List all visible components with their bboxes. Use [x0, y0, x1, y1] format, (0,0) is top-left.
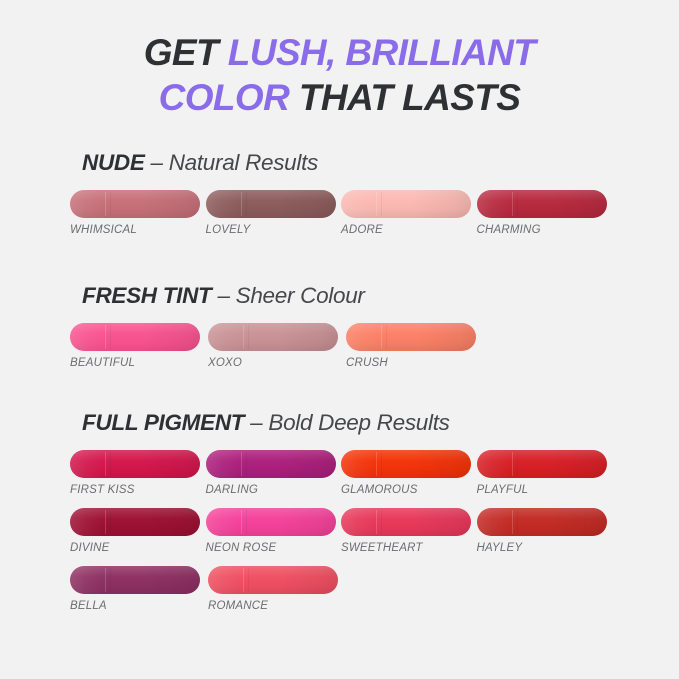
swatch-shadow-line — [246, 510, 247, 534]
headline-line-2: COLOR THAT LASTS — [0, 75, 679, 120]
swatch-row: DIVINENEON ROSESWEETHEARTHAYLEY — [70, 508, 610, 554]
swatch-cell-lovely[interactable]: LOVELY — [206, 190, 340, 236]
swatch-shadow-line — [381, 192, 382, 216]
swatch-sheen-line — [105, 510, 106, 534]
shade-swatch[interactable] — [206, 508, 336, 536]
shade-swatch[interactable] — [70, 508, 200, 536]
shade-name-label: FIRST KISS — [70, 484, 204, 496]
swatch-sheen-line — [241, 452, 242, 476]
swatch-cell-darling[interactable]: DARLING — [206, 450, 340, 496]
swatch-row: BELLAROMANCE — [70, 566, 610, 612]
swatch-cell-sweetheart[interactable]: SWEETHEART — [341, 508, 475, 554]
shade-name-label: NEON ROSE — [206, 542, 340, 554]
section-fresh-tint: FRESH TINT – Sheer ColourBEAUTIFULXOXOCR… — [0, 283, 679, 381]
headline-words-that-lasts: THAT LASTS — [289, 77, 520, 118]
section-nude: NUDE – Natural ResultsWHIMSICALLOVELYADO… — [0, 150, 679, 248]
shade-name-label: HAYLEY — [477, 542, 611, 554]
headline-word-get: GET — [144, 32, 228, 73]
shade-swatch[interactable] — [206, 450, 336, 478]
shade-swatch[interactable] — [341, 190, 471, 218]
swatch-shadow-line — [517, 192, 518, 216]
section-subtitle: Bold Deep Results — [268, 410, 449, 435]
swatch-shadow-line — [110, 568, 111, 592]
section-name: FRESH TINT — [82, 283, 212, 308]
section-title: NUDE – Natural Results — [82, 150, 679, 176]
shade-swatch[interactable] — [346, 323, 476, 351]
swatch-row: FIRST KISSDARLINGGLAMOROUSPLAYFUL — [70, 450, 610, 496]
shade-swatch[interactable] — [208, 323, 338, 351]
shade-swatch[interactable] — [70, 190, 200, 218]
swatch-shadow-line — [248, 325, 249, 349]
swatch-sheen-line — [512, 452, 513, 476]
shade-name-label: CHARMING — [477, 224, 611, 236]
swatch-sheen-line — [243, 325, 244, 349]
shade-chart-page: GET LUSH, BRILLIANT COLOR THAT LASTS NUD… — [0, 0, 679, 679]
shade-swatch[interactable] — [477, 450, 607, 478]
swatch-cell-playful[interactable]: PLAYFUL — [477, 450, 611, 496]
shade-swatch[interactable] — [341, 508, 471, 536]
section-title: FRESH TINT – Sheer Colour — [82, 283, 679, 309]
swatch-cell-adore[interactable]: ADORE — [341, 190, 475, 236]
shade-name-label: XOXO — [208, 357, 344, 369]
shade-swatch[interactable] — [206, 190, 336, 218]
swatch-shadow-line — [381, 510, 382, 534]
headline-words-lush-brilliant: LUSH, BRILLIANT — [228, 32, 536, 73]
shade-name-label: ADORE — [341, 224, 475, 236]
swatch-sheen-line — [376, 192, 377, 216]
section-name: NUDE — [82, 150, 145, 175]
swatch-cell-xoxo[interactable]: XOXO — [208, 323, 344, 369]
shade-name-label: GLAMOROUS — [341, 484, 475, 496]
swatch-shadow-line — [386, 325, 387, 349]
shade-swatch[interactable] — [70, 566, 200, 594]
swatch-cell-glamorous[interactable]: GLAMOROUS — [341, 450, 475, 496]
section-full-pigment: FULL PIGMENT – Bold Deep ResultsFIRST KI… — [0, 410, 679, 624]
swatch-cell-bella[interactable]: BELLA — [70, 566, 206, 612]
swatch-cell-neon-rose[interactable]: NEON ROSE — [206, 508, 340, 554]
swatch-cell-whimsical[interactable]: WHIMSICAL — [70, 190, 204, 236]
swatch-row: WHIMSICALLOVELYADORECHARMING — [70, 190, 610, 236]
headline-line-1: GET LUSH, BRILLIANT — [0, 30, 679, 75]
shade-name-label: DIVINE — [70, 542, 204, 554]
swatch-sheen-line — [105, 192, 106, 216]
swatch-cell-romance[interactable]: ROMANCE — [208, 566, 344, 612]
shade-name-label: WHIMSICAL — [70, 224, 204, 236]
shade-name-label: SWEETHEART — [341, 542, 475, 554]
shade-swatch[interactable] — [208, 566, 338, 594]
shade-name-label: PLAYFUL — [477, 484, 611, 496]
headline-word-color: COLOR — [159, 77, 290, 118]
swatch-cell-divine[interactable]: DIVINE — [70, 508, 204, 554]
section-name: FULL PIGMENT — [82, 410, 244, 435]
swatch-cell-first-kiss[interactable]: FIRST KISS — [70, 450, 204, 496]
swatch-shadow-line — [110, 452, 111, 476]
shade-swatch[interactable] — [70, 450, 200, 478]
section-dash: – — [244, 410, 268, 435]
swatch-sheen-line — [512, 510, 513, 534]
shade-swatch[interactable] — [477, 190, 607, 218]
swatch-shadow-line — [517, 510, 518, 534]
shade-swatch[interactable] — [477, 508, 607, 536]
swatch-sheen-line — [105, 568, 106, 592]
swatch-grid: WHIMSICALLOVELYADORECHARMING — [70, 190, 610, 236]
swatch-shadow-line — [517, 452, 518, 476]
swatch-sheen-line — [105, 325, 106, 349]
swatch-sheen-line — [105, 452, 106, 476]
swatch-row: BEAUTIFULXOXOCRUSH — [70, 323, 610, 369]
swatch-shadow-line — [110, 510, 111, 534]
shade-swatch[interactable] — [341, 450, 471, 478]
swatch-sheen-line — [381, 325, 382, 349]
swatch-shadow-line — [381, 452, 382, 476]
shade-name-label: CRUSH — [346, 357, 482, 369]
swatch-grid: BEAUTIFULXOXOCRUSH — [70, 323, 610, 369]
swatch-sheen-line — [376, 510, 377, 534]
swatch-cell-beautiful[interactable]: BEAUTIFUL — [70, 323, 206, 369]
shade-name-label: BEAUTIFUL — [70, 357, 206, 369]
shade-name-label: ROMANCE — [208, 600, 344, 612]
swatch-shadow-line — [248, 568, 249, 592]
swatch-cell-crush[interactable]: CRUSH — [346, 323, 482, 369]
swatch-shadow-line — [110, 325, 111, 349]
swatch-cell-hayley[interactable]: HAYLEY — [477, 508, 611, 554]
shade-name-label: LOVELY — [206, 224, 340, 236]
section-dash: – — [212, 283, 236, 308]
swatch-shadow-line — [110, 192, 111, 216]
section-dash: – — [145, 150, 169, 175]
swatch-sheen-line — [512, 192, 513, 216]
section-subtitle: Sheer Colour — [236, 283, 365, 308]
swatch-shadow-line — [246, 192, 247, 216]
swatch-shadow-line — [246, 452, 247, 476]
section-subtitle: Natural Results — [169, 150, 318, 175]
swatch-sheen-line — [243, 568, 244, 592]
shade-name-label: DARLING — [206, 484, 340, 496]
section-title: FULL PIGMENT – Bold Deep Results — [82, 410, 679, 436]
swatch-cell-charming[interactable]: CHARMING — [477, 190, 611, 236]
swatch-sheen-line — [241, 510, 242, 534]
shade-swatch[interactable] — [70, 323, 200, 351]
shade-name-label: BELLA — [70, 600, 206, 612]
swatch-sheen-line — [241, 192, 242, 216]
page-title: GET LUSH, BRILLIANT COLOR THAT LASTS — [0, 30, 679, 120]
swatch-sheen-line — [376, 452, 377, 476]
swatch-grid: FIRST KISSDARLINGGLAMOROUSPLAYFULDIVINEN… — [70, 450, 610, 612]
